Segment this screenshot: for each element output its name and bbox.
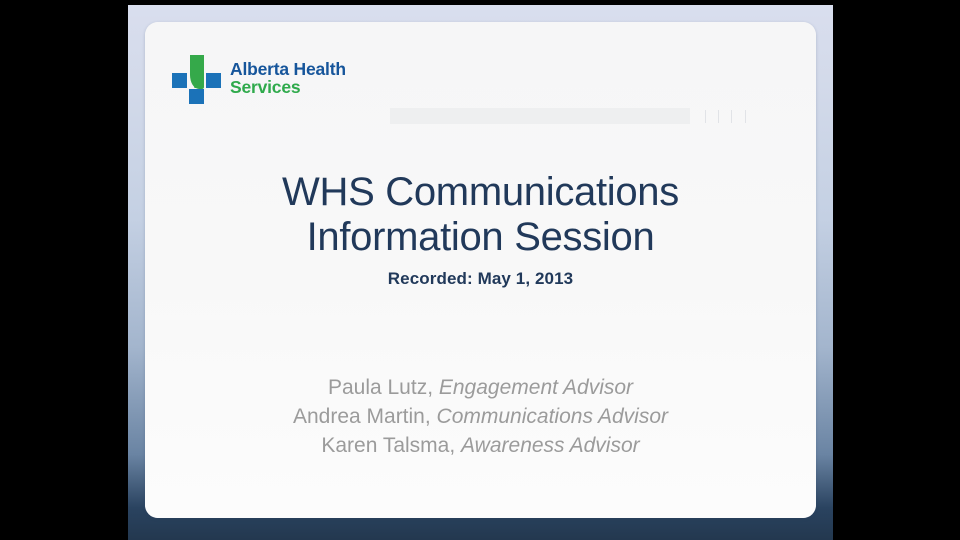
presenter-role: Engagement Advisor xyxy=(439,376,633,399)
presenter-name: Paula Lutz, xyxy=(328,376,433,399)
slide-recorded-date: Recorded: May 1, 2013 xyxy=(145,269,816,289)
presenter-name: Andrea Martin, xyxy=(293,405,431,428)
slide-title-line-1: WHS Communications xyxy=(145,170,816,215)
presentation-slide: Alberta Health Services WHS Communicatio… xyxy=(145,22,816,518)
presenter-role: Communications Advisor xyxy=(437,405,668,428)
presenter-name: Karen Talsma, xyxy=(321,434,455,457)
slide-title-block: WHS Communications Information Session R… xyxy=(145,170,816,289)
presenter-row: Karen Talsma, Awareness Advisor xyxy=(145,432,816,461)
alberta-health-services-logo: Alberta Health Services xyxy=(172,55,346,103)
presenter-row: Andrea Martin, Communications Advisor xyxy=(145,403,816,432)
logo-square-left xyxy=(172,73,187,88)
logo-wordmark-line2: Services xyxy=(230,79,346,97)
slide-title-line-2: Information Session xyxy=(145,215,816,260)
slide-deck-frame: Alberta Health Services WHS Communicatio… xyxy=(128,5,833,540)
presenter-row: Paula Lutz, Engagement Advisor xyxy=(145,374,816,403)
presenter-list: Paula Lutz, Engagement Advisor Andrea Ma… xyxy=(145,374,816,461)
presenter-role: Awareness Advisor xyxy=(461,434,640,457)
logo-wordmark: Alberta Health Services xyxy=(230,61,346,97)
logo-square-bottom xyxy=(189,89,204,104)
video-stage: Alberta Health Services WHS Communicatio… xyxy=(0,0,960,540)
logo-square-right xyxy=(206,73,221,88)
ahs-cross-icon xyxy=(172,55,221,103)
